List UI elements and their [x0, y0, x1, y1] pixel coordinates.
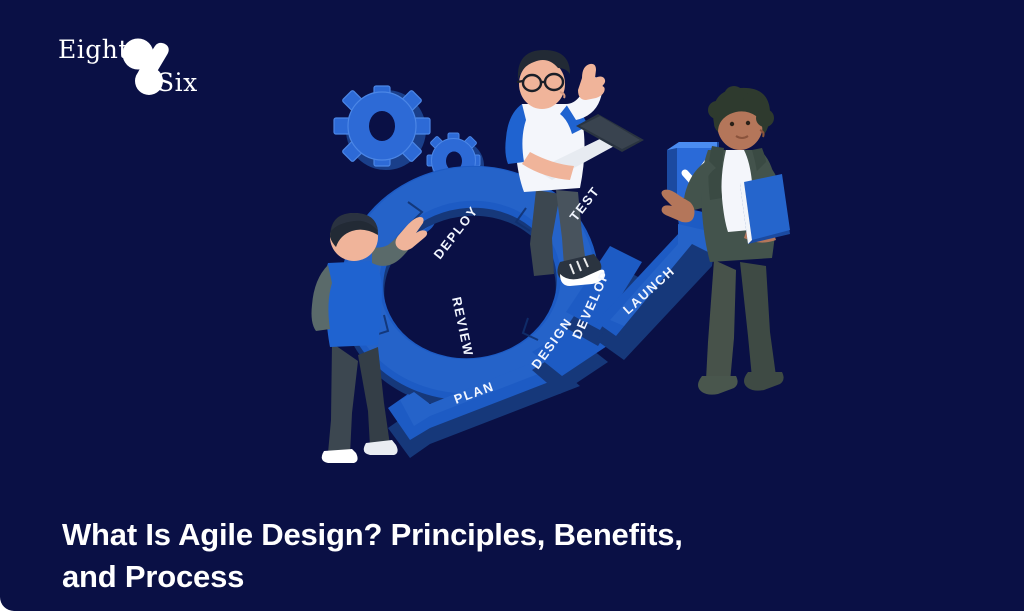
logo-word-six: Six	[157, 68, 198, 97]
page-title: What Is Agile Design? Principles, Benefi…	[62, 514, 822, 598]
blue-folder	[740, 174, 790, 244]
page-title-line-1: What Is Agile Design? Principles, Benefi…	[62, 514, 822, 556]
gear-large-icon	[334, 86, 430, 170]
person-with-laptop-center	[505, 50, 644, 286]
page-title-line-2: and Process	[62, 556, 822, 598]
step-label-review: REVIEW	[449, 296, 476, 359]
brand-logo[interactable]: Eighty Six	[58, 30, 268, 108]
agile-design-banner: Eighty Six .lbl { fill:#f2f6ff; font-fam…	[0, 0, 1024, 611]
agile-process-illustration: .lbl { fill:#f2f6ff; font-family:"Libera…	[280, 40, 820, 480]
